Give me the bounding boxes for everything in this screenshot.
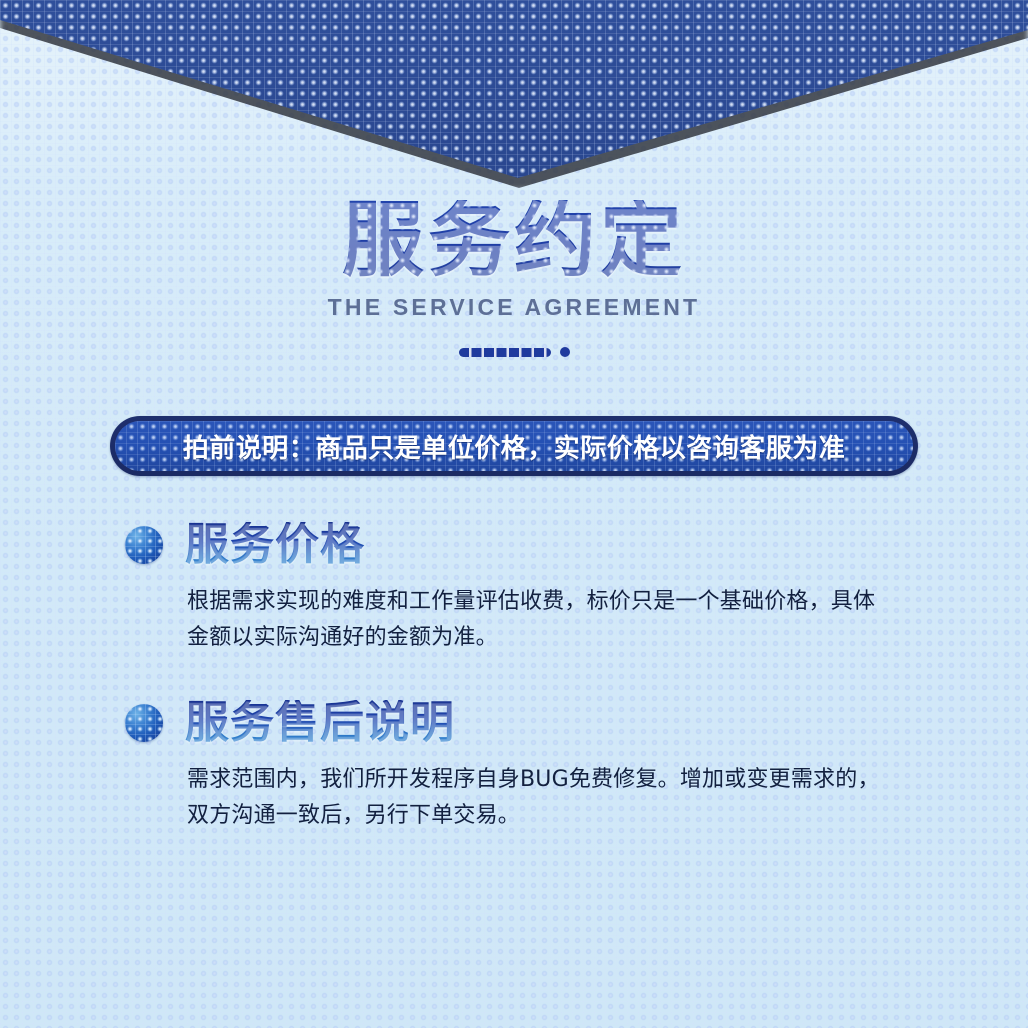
chevron-shape	[0, 0, 1028, 190]
divider-dash-bar	[459, 348, 551, 357]
title-block: 服务约定 THE SERVICE AGREEMENT	[0, 200, 1028, 357]
page-subtitle: THE SERVICE AGREEMENT	[0, 294, 1028, 321]
top-chevron-banner	[0, 0, 1028, 190]
section-title: 服务价格	[185, 522, 365, 568]
section-header: 服务价格	[125, 522, 925, 568]
notice-banner-inner: 拍前说明：商品只是单位价格，实际价格以咨询客服为准	[115, 421, 913, 471]
service-agreement-poster: 服务约定 THE SERVICE AGREEMENT 拍前说明：商品只是单位价格…	[0, 0, 1028, 1028]
divider-dot	[560, 347, 570, 357]
section-title: 服务售后说明	[185, 700, 455, 746]
page-title: 服务约定	[342, 200, 686, 282]
globe-dot-texture	[125, 704, 163, 742]
notice-banner: 拍前说明：商品只是单位价格，实际价格以咨询客服为准	[110, 416, 918, 476]
section-header: 服务售后说明	[125, 700, 925, 746]
chevron-dot-texture	[0, 0, 1028, 190]
section-after-sales: 服务售后说明 需求范围内，我们所开发程序自身BUG免费修复。增加或变更需求的，双…	[125, 700, 925, 833]
section-body-text: 根据需求实现的难度和工作量评估收费，标价只是一个基础价格，具体金额以实际沟通好的…	[187, 584, 887, 655]
dashed-divider-icon	[0, 347, 1028, 357]
section-service-price: 服务价格 根据需求实现的难度和工作量评估收费，标价只是一个基础价格，具体金额以实…	[125, 522, 925, 655]
globe-bullet-icon	[125, 704, 163, 742]
globe-bullet-icon	[125, 526, 163, 564]
globe-dot-texture	[125, 526, 163, 564]
section-body-text: 需求范围内，我们所开发程序自身BUG免费修复。增加或变更需求的，双方沟通一致后，…	[187, 762, 887, 833]
notice-banner-text: 拍前说明：商品只是单位价格，实际价格以咨询客服为准	[183, 428, 846, 465]
